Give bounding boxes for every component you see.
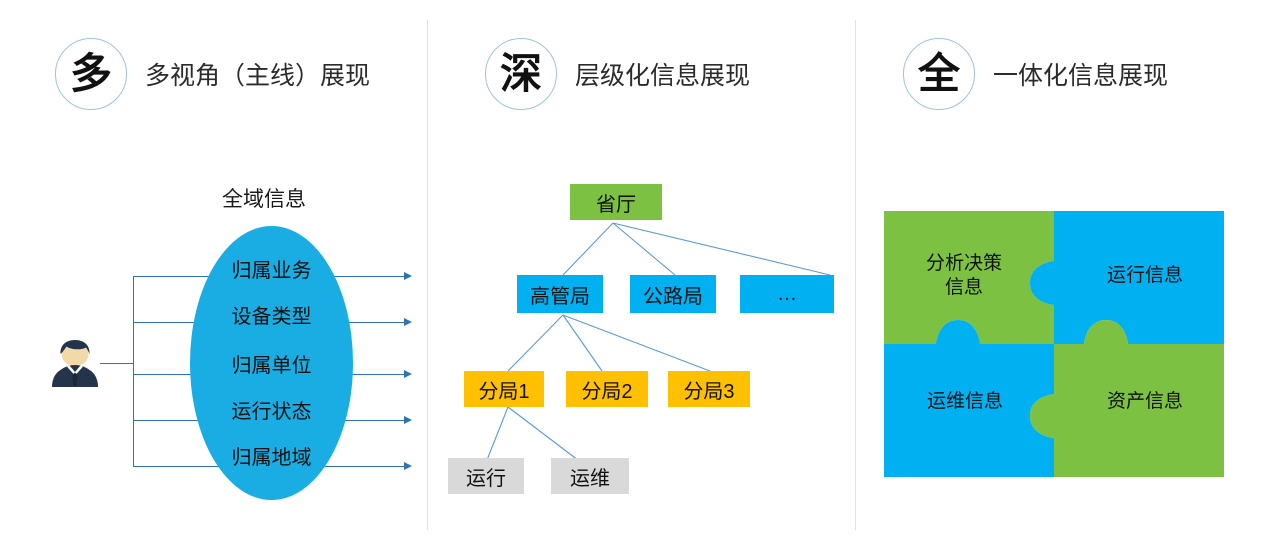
tree-node-level4-1[interactable]: 运行 (448, 458, 524, 494)
panel-divider-2 (855, 20, 856, 530)
circle-badge-icon-3: 全 (903, 38, 975, 110)
dimension-arrow-3 (404, 370, 412, 378)
panel-divider-1 (427, 20, 428, 530)
panel-header-1: 多 多视角（主线）展现 (55, 38, 370, 110)
tree-node-level2-2[interactable]: 公路局 (630, 275, 716, 313)
tree-node-level3-2[interactable]: 分局2 (566, 371, 648, 407)
circle-badge-icon-2: 深 (485, 38, 557, 110)
puzzle-label-maintenance: 运维信息 (890, 390, 1040, 414)
tree-node-level3-1[interactable]: 分局1 (464, 371, 544, 407)
puzzle-label-analysis: 分析决策 信息 (894, 252, 1034, 300)
panel-heading-2: 层级化信息展现 (575, 56, 750, 92)
dimension-arrow-4 (404, 416, 412, 424)
dimension-label-4: 运行状态 (190, 395, 353, 424)
circle-badge-icon-1: 多 (55, 38, 127, 110)
panel-heading-1: 多视角（主线）展现 (145, 56, 370, 92)
dimension-label-3: 归属单位 (190, 349, 353, 378)
panel-header-2: 深 层级化信息展现 (485, 38, 750, 110)
tree-node-root[interactable]: 省厅 (570, 184, 662, 220)
tree-node-level4-2[interactable]: 运维 (551, 458, 629, 494)
puzzle-label-asset: 资产信息 (1070, 390, 1220, 414)
dimension-label-2: 设备类型 (190, 300, 353, 329)
dimension-label-1: 归属业务 (190, 254, 353, 283)
infographic-canvas: 多 多视角（主线）展现 深 层级化信息展现 全 一体化信息展现 全域信息 归属业… (0, 0, 1273, 543)
puzzle-label-operation: 运行信息 (1070, 264, 1220, 288)
dimension-arrow-2 (404, 318, 412, 326)
panel-header-3: 全 一体化信息展现 (903, 38, 1168, 110)
panel-heading-3: 一体化信息展现 (993, 56, 1168, 92)
tree-node-level2-1[interactable]: 高管局 (517, 275, 603, 313)
user-avatar-icon (50, 338, 100, 390)
actor-connector-line (100, 363, 133, 364)
tree-node-level2-3[interactable]: … (740, 275, 834, 313)
dimension-arrow-5 (404, 462, 412, 470)
dimension-arrow-1 (404, 272, 412, 280)
dimension-label-5: 归属地域 (190, 441, 353, 470)
trunk-line (133, 276, 134, 466)
tree-node-level3-3[interactable]: 分局3 (668, 371, 750, 407)
puzzle-diagram (884, 211, 1224, 477)
panel1-title: 全域信息 (222, 183, 306, 213)
